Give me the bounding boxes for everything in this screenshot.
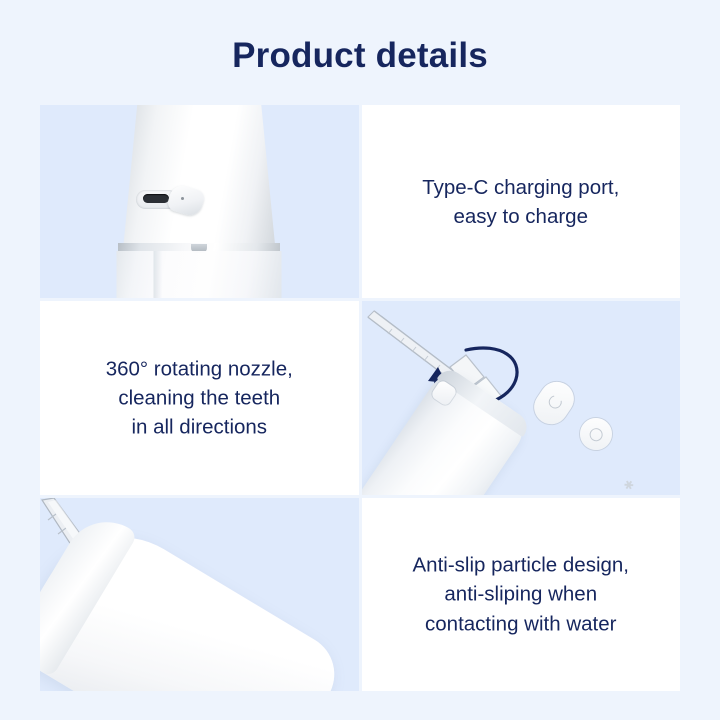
feature-grid: Type-C charging port, easy to charge 360… <box>40 105 680 691</box>
water-tank <box>117 251 282 298</box>
usb-c-port-group <box>136 187 190 213</box>
feature-text-charging-port: Type-C charging port, easy to charge <box>362 105 681 298</box>
caption-line: Anti-slip particle design, <box>376 551 667 580</box>
feature-text-anti-slip: Anti-slip particle design, anti-sliping … <box>362 498 681 691</box>
feature-caption: Type-C charging port, easy to charge <box>362 173 681 231</box>
caption-line: 360° rotating nozzle, <box>54 354 345 383</box>
feature-image-anti-slip <box>40 498 359 691</box>
device-body <box>123 105 275 247</box>
feature-caption: 360° rotating nozzle, cleaning the teeth… <box>40 354 359 441</box>
feature-caption: Anti-slip particle design, anti-sliping … <box>362 551 681 638</box>
device-seam <box>118 243 280 251</box>
indicator-dot-icon <box>181 197 184 200</box>
feature-image-rotating-nozzle: ✱ <box>362 301 681 494</box>
caption-line: contacting with water <box>376 609 667 638</box>
caption-line: in all directions <box>54 413 345 442</box>
caption-line: easy to charge <box>376 202 667 231</box>
device-anti-slip-illustration <box>40 498 359 691</box>
usb-c-slot-icon <box>143 194 169 203</box>
feature-image-charging-port <box>40 105 359 298</box>
caption-line: cleaning the teeth <box>54 383 345 412</box>
feature-text-rotating-nozzle: 360° rotating nozzle, cleaning the teeth… <box>40 301 359 494</box>
device-rotating-nozzle-illustration: ✱ <box>362 301 681 494</box>
caption-line: Type-C charging port, <box>376 173 667 202</box>
page-title: Product details <box>0 36 720 76</box>
caption-line: anti-sliping when <box>376 580 667 609</box>
device-usb-c-port-illustration <box>40 105 359 298</box>
